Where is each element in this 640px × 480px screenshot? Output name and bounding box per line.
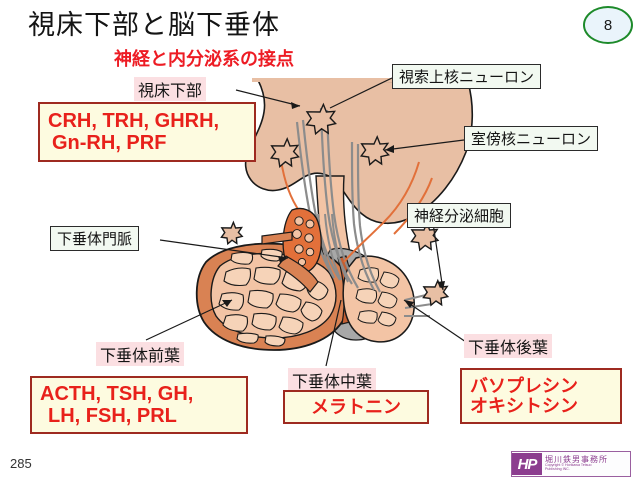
- hormone-box-intermediate: メラトニン: [283, 390, 429, 424]
- slide-number-badge: 8: [583, 6, 633, 44]
- star-cell: [423, 281, 447, 306]
- page-title: 視床下部と脳下垂体: [28, 8, 280, 42]
- slide-number-value: 8: [604, 17, 612, 34]
- label-hypothalamus: 視床下部: [134, 77, 206, 101]
- hormone-box-posterior: バソプレシン オキシトシン: [460, 368, 622, 424]
- star-cell: [221, 222, 242, 243]
- page-subtitle: 神経と内分泌系の接点: [114, 48, 294, 70]
- hormone-line: メラトニン: [311, 397, 401, 417]
- hormone-line: CRH, TRH, GHRH,: [48, 110, 219, 132]
- slide-root: 視床下部と脳下垂体 神経と内分泌系の接点 8 視床下部 視索上核ニューロン 室傍…: [0, 0, 640, 480]
- label-intermediate-lobe: 下垂体中葉: [288, 368, 376, 392]
- hormone-line: LH, FSH, PRL: [40, 405, 177, 427]
- page-number: 285: [10, 456, 32, 471]
- hormone-box-anterior: ACTH, TSH, GH, LH, FSH, PRL: [30, 376, 248, 434]
- logo-copyright-line2: Publishing INC.: [545, 468, 608, 472]
- logo-mark: HP: [512, 453, 542, 475]
- logo-text: 堀川鉄男事務所 Copyright © Horikawa Tetsuo Publ…: [542, 456, 608, 471]
- posterior-lobe: [343, 256, 414, 342]
- publisher-logo: HP 堀川鉄男事務所 Copyright © Horikawa Tetsuo P…: [511, 451, 631, 477]
- label-neurosecretory-cell: 神経分泌細胞: [407, 203, 511, 228]
- hormone-line: バソプレシン: [470, 376, 578, 396]
- label-posterior-lobe: 下垂体後葉: [464, 334, 552, 358]
- hormone-line: Gn-RH, PRF: [48, 132, 166, 154]
- label-paraventricular-neuron: 室傍核ニューロン: [464, 126, 598, 151]
- label-hypophyseal-portal-vein: 下垂体門脈: [50, 226, 139, 251]
- label-supraoptic-neuron: 視索上核ニューロン: [392, 64, 541, 89]
- hormone-box-hypothalamic: CRH, TRH, GHRH, Gn-RH, PRF: [38, 102, 256, 162]
- hormone-line: ACTH, TSH, GH,: [40, 383, 193, 405]
- label-anterior-lobe: 下垂体前葉: [96, 342, 184, 366]
- hormone-line: オキシトシン: [470, 396, 578, 416]
